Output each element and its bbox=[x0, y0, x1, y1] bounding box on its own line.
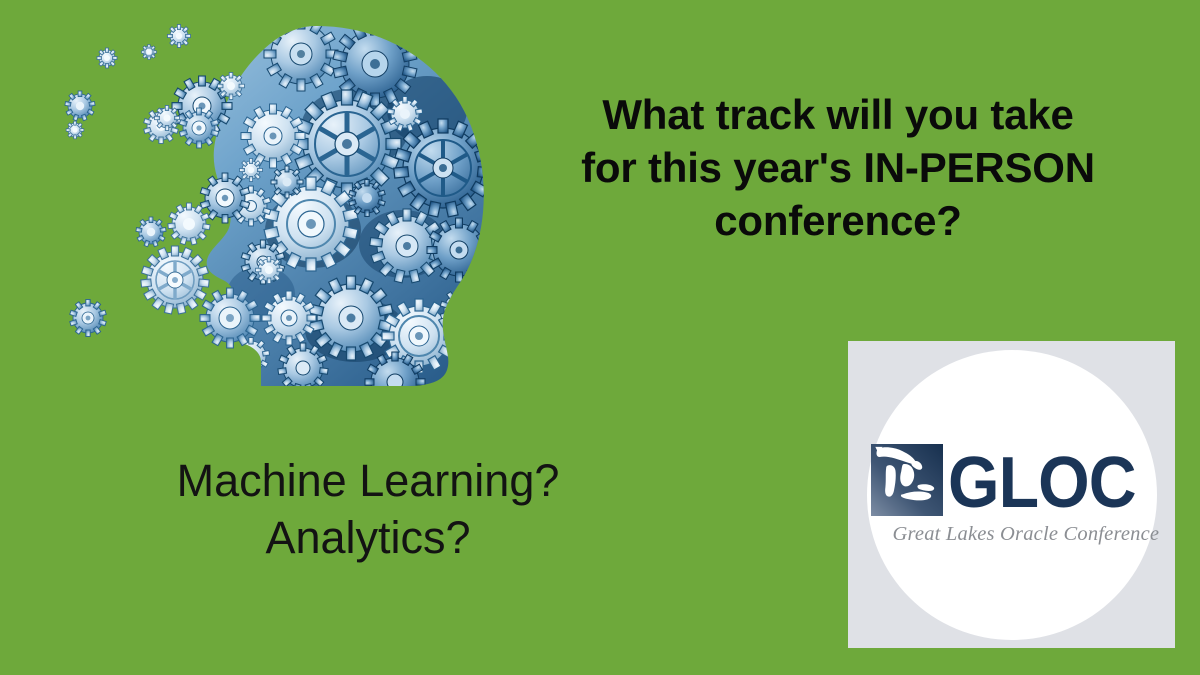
gloc-logo: GLOC Great Lakes Oracle Conference bbox=[893, 444, 1131, 546]
gloc-logo-panel: GLOC Great Lakes Oracle Conference bbox=[848, 341, 1175, 648]
gloc-tagline: Great Lakes Oracle Conference bbox=[893, 522, 1131, 546]
logo-mark-row: GLOC bbox=[893, 444, 1131, 516]
track-option-analytics: Analytics? bbox=[148, 509, 588, 566]
headline-line-2: for this year's IN-PERSON bbox=[548, 141, 1128, 194]
great-lakes-map-icon bbox=[871, 444, 943, 516]
gloc-wordmark: GLOC bbox=[948, 450, 1136, 516]
gear-head-illustration bbox=[55, 18, 515, 398]
track-option-machine-learning: Machine Learning? bbox=[148, 452, 588, 509]
promo-graphic-canvas: What track will you take for this year's… bbox=[0, 0, 1200, 675]
headline-line-3: conference? bbox=[548, 194, 1128, 247]
page-title: What track will you take for this year's… bbox=[548, 88, 1128, 247]
track-options-text: Machine Learning? Analytics? bbox=[148, 452, 588, 566]
headline-line-1: What track will you take bbox=[548, 88, 1128, 141]
